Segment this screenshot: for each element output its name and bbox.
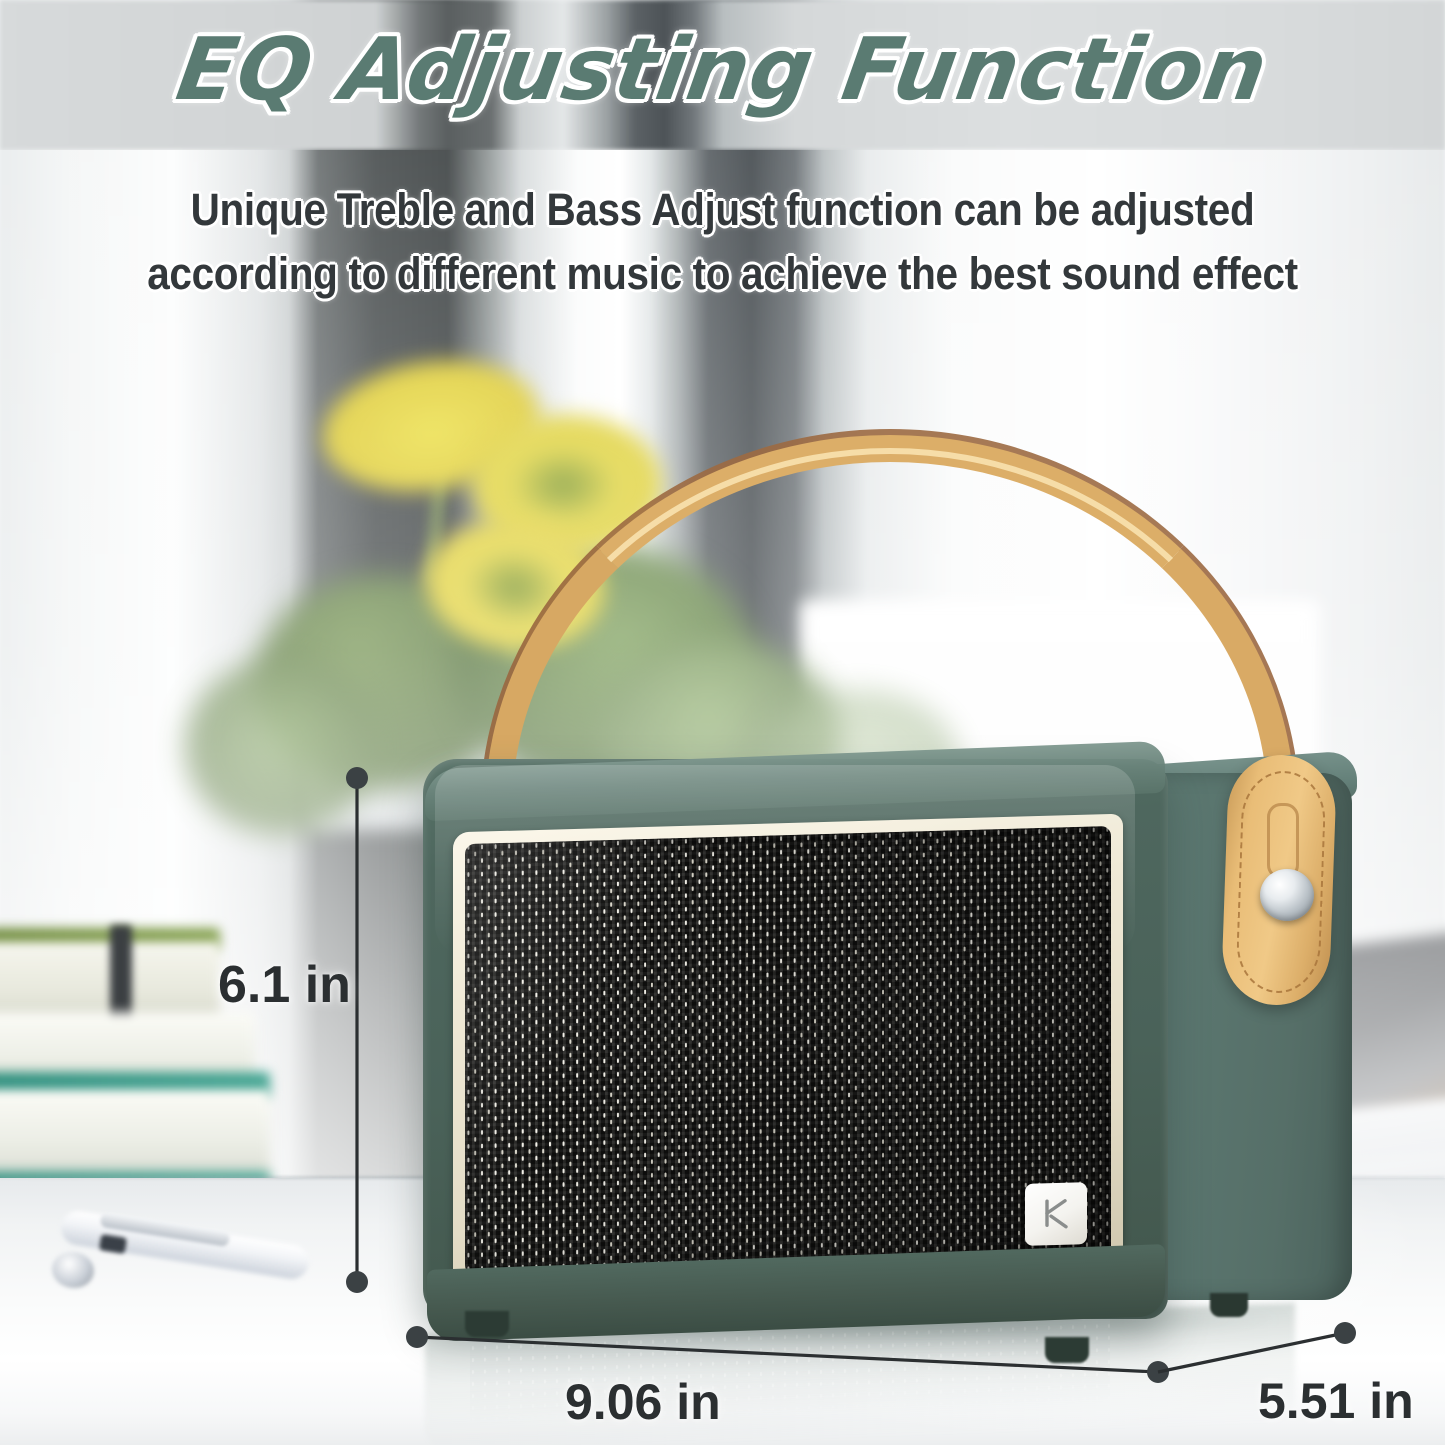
depth-dimension-line bbox=[1158, 1333, 1345, 1372]
product-feature-image: 6.1 in 9.06 in 5.51 in EQ Adjusting Func… bbox=[0, 0, 1445, 1445]
width-dimension-line bbox=[417, 1337, 1158, 1372]
description-line-2: according to different music to achieve … bbox=[72, 242, 1373, 306]
depth-dimension-label: 5.51 in bbox=[1258, 1372, 1414, 1430]
height-line-top-dot bbox=[346, 767, 368, 789]
width-dimension-label: 9.06 in bbox=[565, 1373, 721, 1431]
depth-line-end-dot bbox=[1334, 1322, 1356, 1344]
description-line-1: Unique Treble and Bass Adjust function c… bbox=[72, 178, 1373, 242]
feature-description: Unique Treble and Bass Adjust function c… bbox=[72, 178, 1373, 306]
width-line-left-dot bbox=[406, 1326, 428, 1348]
height-dimension-label: 6.1 in bbox=[218, 955, 351, 1015]
height-line-bottom-dot bbox=[346, 1271, 368, 1293]
page-title: EQ Adjusting Function bbox=[0, 20, 1445, 120]
